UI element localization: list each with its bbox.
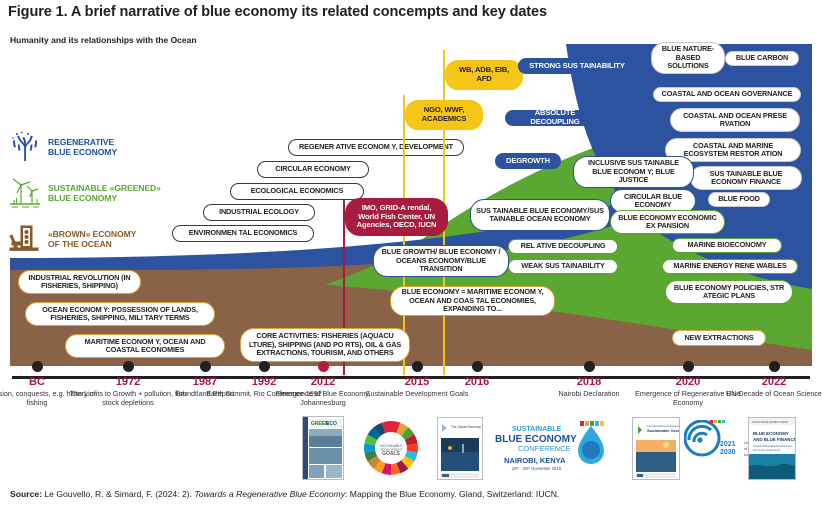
legend-item-sustainable: SUSTAINABLE «GREENED»BLUE ECONOMY [8,176,183,210]
concept-coastal-and-ocean-preservation[interactable]: COASTAL AND OCEAN PRESE RVATION [670,108,800,132]
svg-text:2021: 2021 [720,441,736,448]
concept-regenerative-economy[interactable]: REGENER ATIVE ECONOM Y, DEVELOPMENT [288,139,464,156]
timeline-dot [584,361,595,372]
concept-blue-growth-transition[interactable]: BLUE GROWTH/ BLUE ECONOMY / OCEANS ECONO… [373,245,509,277]
source-line: Source: Le Gouvello, R. & Simard, F. (20… [10,489,559,499]
oil-rig-icon [8,222,42,256]
concept-maritime-economy-coastal[interactable]: MARITIME ECONOM Y, OCEAN AND COASTAL ECO… [65,334,225,358]
actor-wb-adb-eib-afd[interactable]: WB, ADB, EIB, AFD [445,60,523,90]
timeline-dot [769,361,780,372]
legend-label-brown: «BROWN» ECONOMYOF THE OCEAN [48,229,136,250]
legend-label-sustainable: SUSTAINABLE «GREENED»BLUE ECONOMY [48,183,161,204]
timeline-dot [123,361,134,372]
svg-text:SUSTAINABLE: SUSTAINABLE [512,426,562,433]
thumbnail-sdg-wheel[interactable]: SUSTAINABLE DEVELOPMENT GOALS [363,420,419,476]
svg-text:and Ocean Governance: and Ocean Governance [753,448,781,452]
svg-text:ASIAN DEVELOPMENT BANK: ASIAN DEVELOPMENT BANK [752,420,788,424]
svg-text:AND BLUE FINANCE: AND BLUE FINANCE [753,437,795,442]
concept-inclusive-sustainable-blue-economy[interactable]: INCLUSIVE SUS TAINABLE BLUE ECONOM Y; BL… [573,156,694,188]
concept-marine-bioeconomy[interactable]: MARINE BIOECONOMY [672,238,782,253]
concept-sustainable-blue-economy-finance[interactable]: SUS TAINABLE BLUE ECONOMY FINANCE [690,166,802,190]
concept-industrial-ecology[interactable]: INDUSTRIAL ECOLOGY [203,204,315,221]
timeline-year: 2016 [417,376,537,388]
concept-ecological-economics[interactable]: ECOLOGICAL ECONOMICS [230,183,364,200]
concept-industrial-revolution[interactable]: INDUSTRIAL REVOLUTION (IN FISHERIES, SHI… [18,270,141,294]
svg-text:Sustainable Ocean for All: Sustainable Ocean for All [647,428,679,433]
actor-ngo-wwf-academics[interactable]: NGO, WWF, ACADEMICS [405,100,483,130]
timeline-desc: Sustainable Development Goals [357,389,477,398]
concept-relative-decoupling[interactable]: REL ATIVE DECOUPLING [508,239,618,254]
legend-item-regenerative: REGENERATIVEBLUE ECONOMY [8,130,183,164]
svg-text:BLUE ECONOMY: BLUE ECONOMY [753,431,789,436]
thumbnail-sustainable-ocean-for-all[interactable]: The Development Dimension Sustainable Oc… [632,417,680,480]
wind-turbine-icon [8,176,42,210]
svg-text:CONFERENCE: CONFERENCE [518,444,571,453]
concept-new-extractions[interactable]: NEW EXTRACTIONS [672,330,766,346]
timeline-dot [472,361,483,372]
timeline-node-2016[interactable]: 2016 [417,366,537,389]
thumbnail-ocean-economy-2030[interactable]: The Ocean Economy in 2030 [437,417,483,480]
svg-text:2030: 2030 [720,449,736,456]
timeline-year: 2022 [714,376,822,388]
concept-blue-nature-based-solutions[interactable]: BLUE NATURE-BASED SOLUTIONS [651,42,725,74]
concept-strong-sustainability[interactable]: STRONG SUS TAINABILITY [518,58,636,74]
thumbnail-green-economy-cover[interactable]: GREEN ECO [302,416,344,480]
svg-text:26ᵗʰ - 28ᵗʰ November 2018: 26ᵗʰ - 28ᵗʰ November 2018 [512,466,562,471]
concept-weak-sustainability[interactable]: WEAK SUS TAINABILITY [508,259,618,274]
figure-title: Figure 1. A brief narrative of blue econ… [8,4,808,20]
concept-marine-energy-renewables[interactable]: MARINE ENERGY RENE WABLES [662,259,798,274]
concept-blue-economy-economic-expansion[interactable]: BLUE ECONOMY ECONOMIC EX PANSION [610,210,725,234]
concept-ocean-economy-possession[interactable]: OCEAN ECONOM Y: POSSESSION OF LANDS, FIS… [25,302,215,326]
legend-item-brown: «BROWN» ECONOMYOF THE OCEAN [8,222,183,256]
source-title: Towards a Regenerative Blue Economy [194,489,345,499]
timeline-node-2022[interactable]: 2022 UN Decade of Ocean Science [714,366,822,398]
concept-environmental-economics[interactable]: ENVIRONMEN TAL ECONOMICS [172,225,314,242]
concept-sustainable-blue-economy-ocean-economy[interactable]: SUS TAINABLE BLUE ECONOMY/SUS TAINABLE O… [470,199,610,231]
source-part2: : Mapping the Blue Economy. Gland, Switz… [345,489,559,499]
svg-text:GOALS: GOALS [382,451,400,457]
source-label: Source: [10,489,42,499]
svg-text:NAIROBI, KENYA: NAIROBI, KENYA [504,456,566,465]
concept-blue-economy-policies[interactable]: BLUE ECONOMY POLICIES, STR ATEGIC PLANS [665,280,793,304]
concept-blue-economy-maritime[interactable]: BLUE ECONOMY = MARITIME ECONOM Y, OCEAN … [390,286,555,316]
legend-label-regenerative: REGENERATIVEBLUE ECONOMY [48,137,117,158]
svg-text:The Ocean Economy in 2030: The Ocean Economy in 2030 [451,425,482,429]
figure-root: Figure 1. A brief narrative of blue econ… [0,0,822,508]
timeline-dot [32,361,43,372]
coral-icon [8,130,42,164]
actor-imo-grid-arendal[interactable]: IMO, GRID-A rendal, World Fish Center, U… [345,198,448,236]
timeline-desc: UN Decade of Ocean Science [714,389,822,398]
source-part1: Le Gouvello, R. & Simard, F. (2024: 2). [42,489,194,499]
concept-blue-food[interactable]: BLUE FOOD [708,192,770,207]
concept-coastal-and-ocean-governance[interactable]: COASTAL AND OCEAN GOVERNANCE [653,87,801,102]
thumbnail-blue-economy-blue-finance[interactable]: ASIAN DEVELOPMENT BANK BLUE ECONOMY AND … [748,417,796,480]
svg-text:Toward Sustainable Development: Toward Sustainable Development [753,444,792,448]
timeline-dot [683,361,694,372]
legend: REGENERATIVEBLUE ECONOMY [8,130,183,268]
concept-core-activities[interactable]: CORE ACTIVITIES: FISHERIES (AQUACU LTURE… [240,328,410,362]
svg-text:ECO: ECO [326,421,337,427]
thumbnail-un-ocean-decade[interactable]: 2021 2030 United Nations Decade of Ocean… [684,420,756,472]
timeline-dot-highlight [318,361,329,372]
thumbnail-sustainable-blue-economy-conference[interactable]: SUSTAINABLE BLUE ECONOMY CONFERENCE NAIR… [492,420,604,472]
concept-absolute-decoupling[interactable]: ABSOLUTE DECOUPLING [505,110,605,126]
concept-blue-carbon[interactable]: BLUE CARBON [725,51,799,66]
concept-degrowth[interactable]: DEGROWTH [495,153,561,169]
concept-circular-economy[interactable]: CIRCULAR ECONOMY [257,161,369,178]
